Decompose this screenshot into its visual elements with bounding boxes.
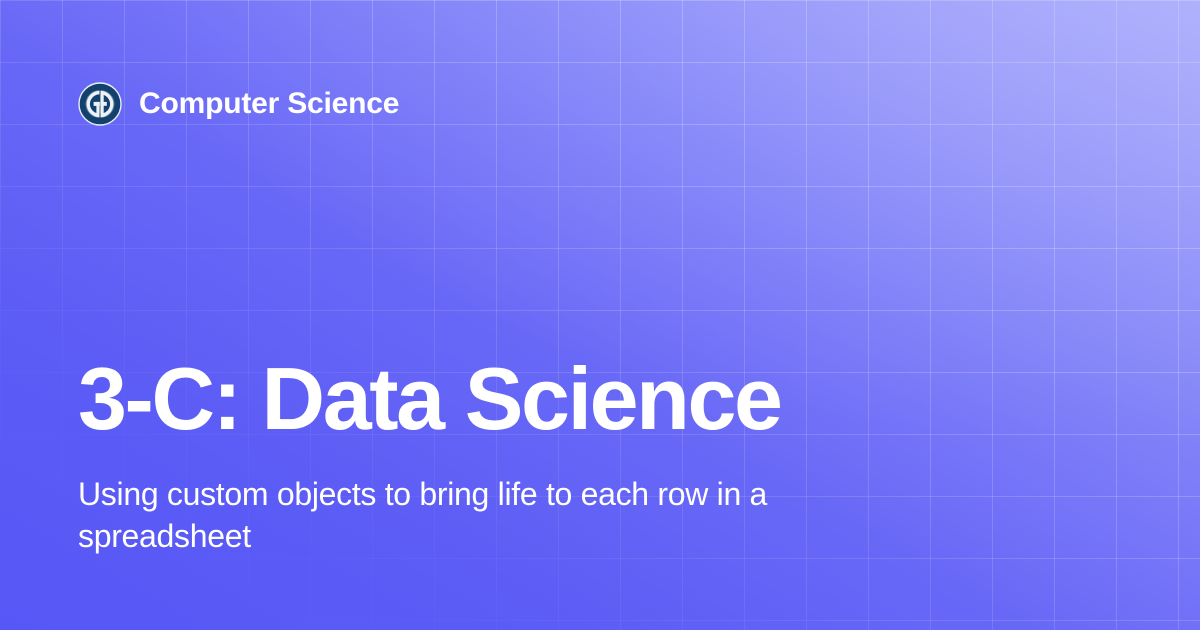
- page-title: 3-C: Data Science: [78, 355, 898, 443]
- general-assembly-ga-monogram-icon: [78, 82, 122, 126]
- banner-content: 3-C: Data Science Using custom objects t…: [78, 355, 898, 558]
- page-subtitle: Using custom objects to bring life to ea…: [78, 473, 838, 558]
- brand-name-label: Computer Science: [139, 89, 399, 119]
- brand-header: Computer Science: [78, 82, 399, 126]
- og-banner-card: Computer Science 3-C: Data Science Using…: [0, 0, 1200, 630]
